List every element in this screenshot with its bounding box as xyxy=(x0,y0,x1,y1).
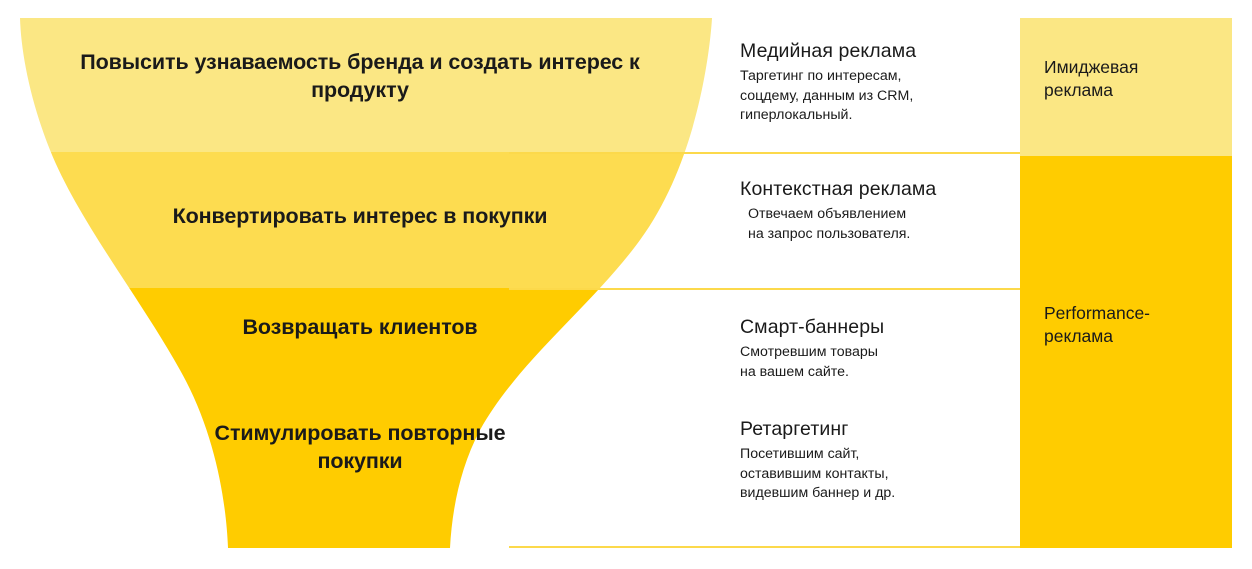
funnel-stage-goal-repeat: Стимулировать повторные покупки xyxy=(180,420,540,475)
category-performance-advertising[interactable]: Performance- реклама xyxy=(1020,156,1232,548)
ad-type-cards-panel: Медийная реклама Таргетинг по интересам,… xyxy=(509,18,1020,548)
card-title: Контекстная реклама xyxy=(740,178,1015,201)
category-label: Performance- реклама xyxy=(1044,302,1232,348)
card-divider xyxy=(509,152,1020,154)
card-description: Отвечаем объявлением на запрос пользоват… xyxy=(740,205,1015,244)
card-description: Посетившим сайт, оставившим контакты, ви… xyxy=(740,445,1015,503)
card-title: Медийная реклама xyxy=(740,40,1015,63)
category-image-advertising[interactable]: Имиджевая реклама xyxy=(1020,18,1232,156)
ad-type-card-smart-banners[interactable]: Смарт-баннеры Смотревшим товары на вашем… xyxy=(740,316,1015,382)
card-title: Ретаргетинг xyxy=(740,418,1015,441)
card-description: Смотревшим товары на вашем сайте. xyxy=(740,343,1015,382)
funnel-stage-goal-return: Возвращать клиентов xyxy=(180,314,540,342)
card-divider-bottom xyxy=(509,546,1020,548)
funnel-diagram: Повысить узнаваемость бренда и создать и… xyxy=(0,0,1252,569)
card-divider xyxy=(509,288,1020,290)
ad-type-card-media[interactable]: Медийная реклама Таргетинг по интересам,… xyxy=(740,40,1015,126)
category-label: Имиджевая реклама xyxy=(1044,56,1232,102)
ad-type-card-context[interactable]: Контекстная реклама Отвечаем объявлением… xyxy=(740,178,1015,244)
card-title: Смарт-баннеры xyxy=(740,316,1015,339)
ad-type-card-retargeting[interactable]: Ретаргетинг Посетившим сайт, оставившим … xyxy=(740,418,1015,504)
card-description: Таргетинг по интересам, соцдему, данным … xyxy=(740,67,1015,125)
